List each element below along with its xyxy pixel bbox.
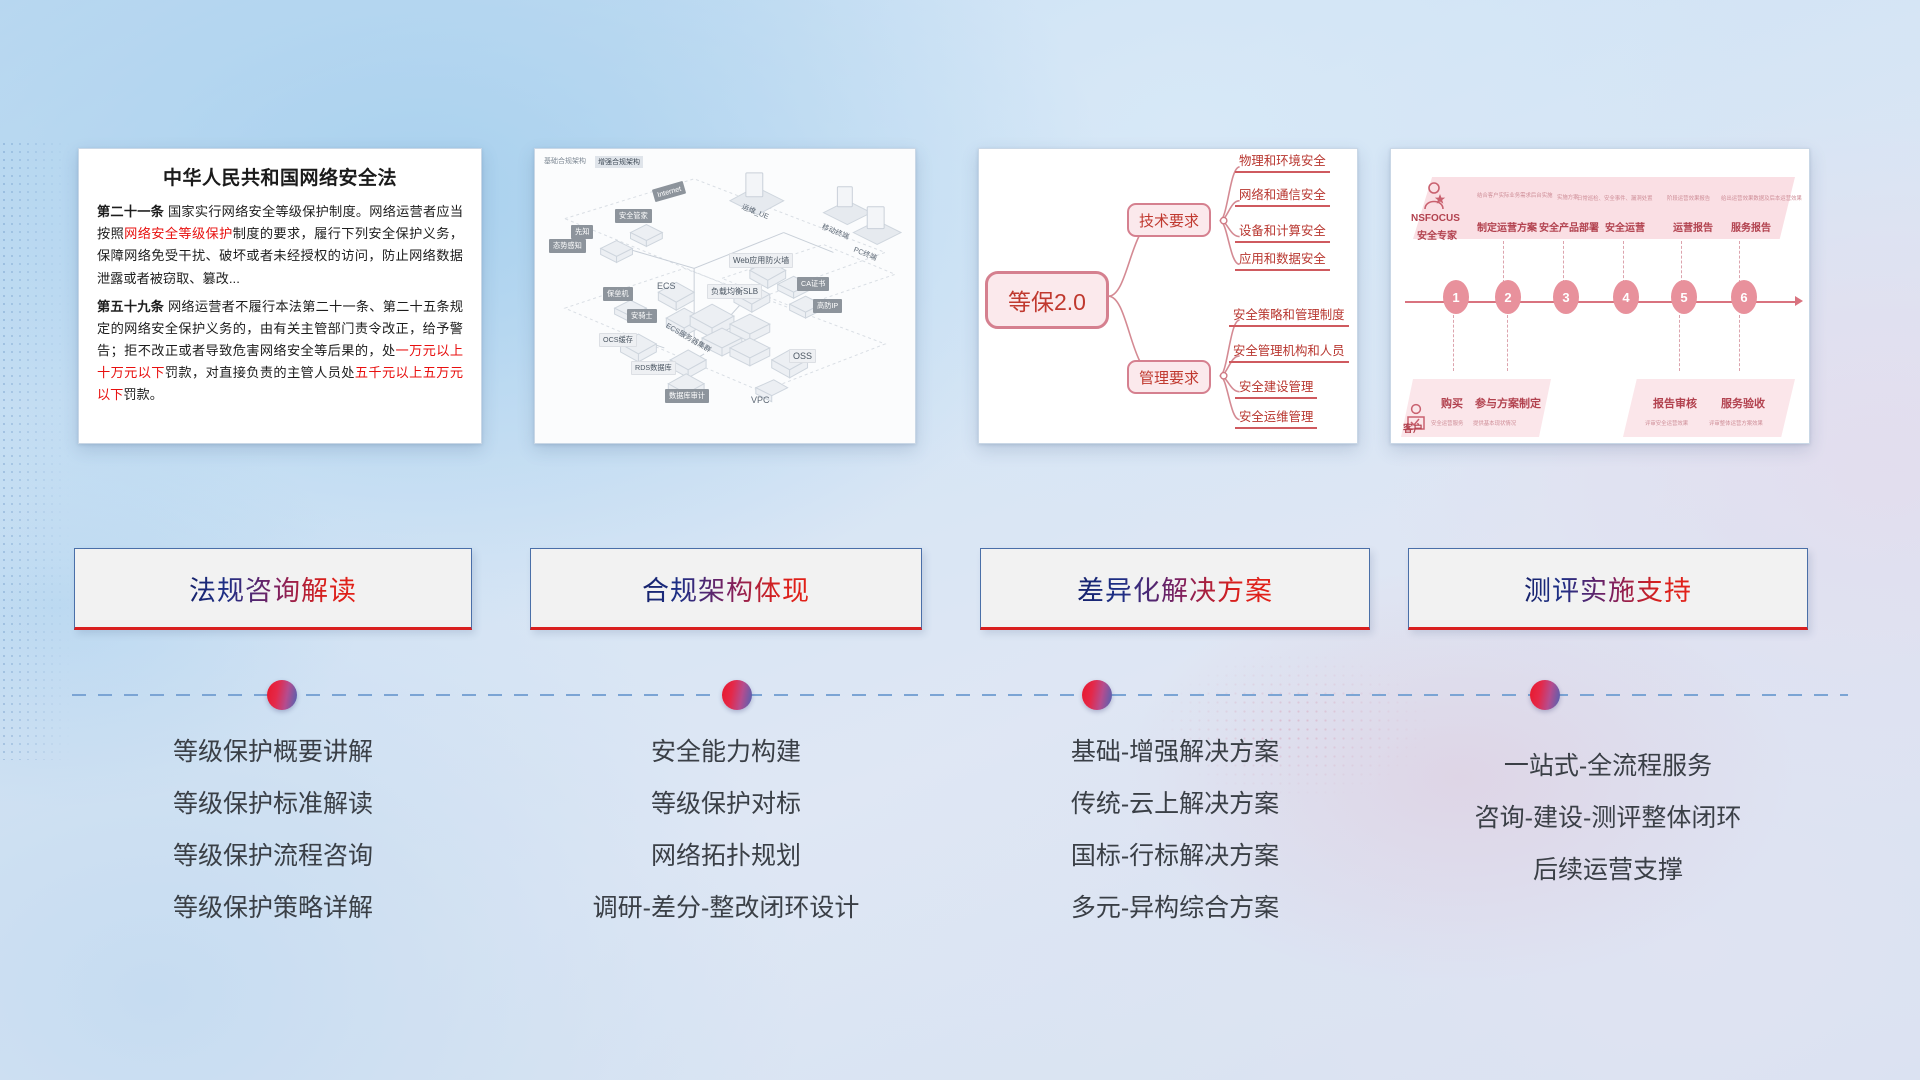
label-ca-certificate: CA证书 (797, 277, 829, 291)
bottom-step-title: 购买 (1441, 395, 1463, 411)
bottom-step-sub: 提供基本现状情况 (1473, 419, 1516, 427)
mindmap-leaf: 物理和环境安全 (1235, 151, 1330, 173)
timeline-dashed-line (72, 694, 1848, 696)
law-article-21: 第二十一条 国家实行网络安全等级保护制度。网络运营者应当按照网络安全等级保护制度… (97, 201, 463, 290)
detail-column-architecture: 安全能力构建 等级保护对标 网络拓扑规划 调研-差分-整改闭环设计 (530, 740, 922, 948)
label-security-butler: 安全管家 (615, 209, 652, 223)
bottom-step-title: 报告审核 (1653, 395, 1697, 411)
timeline-node[interactable]: 5 (1671, 280, 1697, 314)
mindmap-branch-technical: 技术要求 (1127, 203, 1211, 237)
mindmap-root: 等保2.0 (985, 271, 1109, 329)
expert-role: 安全专家 (1417, 227, 1457, 242)
stage-button-label: 测评实施支持 (1524, 569, 1692, 608)
mindmap-leaf: 安全管理机构和人员 (1229, 341, 1349, 363)
bottom-step-title: 服务验收 (1721, 395, 1765, 411)
label-rds-database: RDS数据库 (631, 361, 676, 375)
law-document: 中华人民共和国网络安全法 第二十一条 国家实行网络安全等级保护制度。网络运营者应… (79, 149, 481, 421)
label-anti-ddos-ip: 高防IP (813, 299, 842, 313)
top-step-sub: 结合客户实际业务需求后台实施 (1477, 191, 1552, 199)
top-step-title: 制定运营方案 (1477, 219, 1537, 234)
detail-line: 调研-差分-整改闭环设计 (530, 896, 922, 921)
mindmap-leaf: 安全运维管理 (1235, 407, 1317, 429)
architecture-diagram: 基础合规架构 增强合规架构 (535, 149, 915, 443)
mindmap-leaf: 设备和计算安全 (1235, 221, 1330, 243)
process-timeline (72, 694, 1848, 696)
label-xianzhi: 先知 (571, 225, 593, 239)
connector-dashed (1623, 241, 1624, 283)
law-article-21-label: 第二十一条 (97, 204, 164, 219)
connector-dashed (1507, 315, 1508, 371)
label-security-knight: 安骑士 (627, 309, 657, 323)
mindmap-leaf: 安全建设管理 (1235, 377, 1317, 399)
mindmap-leaf: 安全策略和管理制度 (1229, 305, 1349, 327)
expert-brand: NSFOCUS (1411, 213, 1460, 224)
timeline-marker-2[interactable] (722, 680, 752, 710)
card-nsfocus-service-timeline[interactable]: NSFOCUS 安全专家 结合客户实际业务需求后台实施 制定运营方案 实施方案 … (1390, 148, 1810, 444)
law-article-59-part3: 罚款。 (123, 387, 163, 402)
top-step-title: 服务报告 (1731, 219, 1771, 234)
top-step-title: 安全产品部署 (1539, 219, 1599, 234)
connector-dashed (1503, 241, 1504, 283)
connector-dashed (1679, 315, 1680, 371)
label-database-audit: 数据库审计 (665, 389, 709, 403)
label-situation-awareness: 态势感知 (549, 239, 586, 253)
stage-button-compliance-architecture[interactable]: 合规架构体现 (530, 548, 922, 630)
label-ecs: ECS (657, 281, 676, 291)
detail-line: 后续运营支撑 (1408, 858, 1808, 883)
card-cybersecurity-law[interactable]: 中华人民共和国网络安全法 第二十一条 国家实行网络安全等级保护制度。网络运营者应… (78, 148, 482, 444)
law-article-21-highlight: 网络安全等级保护 (124, 226, 233, 241)
customer-role: 客户 (1403, 420, 1423, 435)
stage-button-regulation-consulting[interactable]: 法规咨询解读 (74, 548, 472, 630)
stage-button-label: 法规咨询解读 (189, 569, 357, 608)
top-step-title: 运营报告 (1673, 219, 1713, 234)
law-article-59-part2: 罚款，对直接负责的主管人员处 (165, 365, 355, 380)
detail-line: 等级保护流程咨询 (74, 844, 472, 869)
bottom-step-sub: 评审安全运营效果 (1645, 419, 1688, 427)
detail-line: 等级保护概要讲解 (74, 740, 472, 765)
mindmap: 等保2.0 技术要求 物理和环境安全 网络和通信安全 设备和计算安全 应用和数据… (979, 149, 1357, 443)
timeline-marker-3[interactable] (1082, 680, 1112, 710)
stage-button-differentiated-solution[interactable]: 差异化解决方案 (980, 548, 1370, 630)
law-article-59-label: 第五十九条 (97, 299, 164, 314)
nsfocus-timeline: NSFOCUS 安全专家 结合客户实际业务需求后台实施 制定运营方案 实施方案 … (1391, 149, 1809, 443)
connector-dashed (1739, 315, 1740, 371)
connector-dashed (1739, 241, 1740, 283)
detail-line: 传统-云上解决方案 (980, 792, 1370, 817)
top-step-sub: 日常巡检、安全事件、漏洞处置 (1577, 194, 1652, 202)
detail-line: 咨询-建设-测评整体闭环 (1408, 806, 1808, 831)
label-oss: OSS (789, 349, 816, 363)
mindmap-branch-management: 管理要求 (1127, 360, 1211, 394)
timeline-node[interactable]: 3 (1553, 280, 1579, 314)
bottom-step-sub: 安全运营服务 (1431, 419, 1463, 427)
detail-line: 基础-增强解决方案 (980, 740, 1370, 765)
expert-person-icon (1421, 181, 1447, 211)
stage-button-assessment-support[interactable]: 测评实施支持 (1408, 548, 1808, 630)
detail-line: 等级保护策略详解 (74, 896, 472, 921)
timeline-node[interactable]: 6 (1731, 280, 1757, 314)
preview-cards-row: 中华人民共和国网络安全法 第二十一条 国家实行网络安全等级保护制度。网络运营者应… (0, 148, 1920, 444)
stage-button-label: 差异化解决方案 (1077, 569, 1273, 608)
label-ocs-cache: OCS缓存 (599, 333, 637, 347)
detail-column-solution: 基础-增强解决方案 传统-云上解决方案 国标-行标解决方案 多元-异构综合方案 (980, 740, 1370, 948)
law-article-59: 第五十九条 网络运营者不履行本法第二十一条、第二十五条规定的网络安全保护义务的，… (97, 296, 463, 407)
detail-line: 网络拓扑规划 (530, 844, 922, 869)
detail-line: 安全能力构建 (530, 740, 922, 765)
slide-stage: 中华人民共和国网络安全法 第二十一条 国家实行网络安全等级保护制度。网络运营者应… (0, 0, 1920, 1080)
mindmap-leaf: 应用和数据安全 (1235, 249, 1330, 271)
label-slb: 负载均衡SLB (707, 284, 762, 299)
label-vpc: VPC (751, 395, 770, 405)
timeline-node[interactable]: 2 (1495, 280, 1521, 314)
timeline-node[interactable]: 4 (1613, 280, 1639, 314)
timeline-arrow-icon (1795, 296, 1803, 306)
detail-column-regulation: 等级保护概要讲解 等级保护标准解读 等级保护流程咨询 等级保护策略详解 (74, 740, 472, 948)
mindmap-leaf: 网络和通信安全 (1235, 185, 1330, 207)
customer-band-right (1623, 379, 1795, 437)
bottom-step-sub: 评审整体运营方案效果 (1709, 419, 1763, 427)
connector-dashed (1453, 315, 1454, 371)
connector-dashed (1681, 241, 1682, 283)
label-web-waf: Web应用防火墙 (729, 253, 793, 268)
timeline-node[interactable]: 1 (1443, 280, 1469, 314)
detail-column-assessment: 一站式-全流程服务 咨询-建设-测评整体闭环 后续运营支撑 (1408, 740, 1808, 910)
label-bastion-host: 保垒机 (603, 287, 633, 301)
top-step-sub: 实施方案 (1557, 193, 1579, 201)
detail-line: 国标-行标解决方案 (980, 844, 1370, 869)
top-step-sub: 阶段运营效果报告 (1667, 194, 1710, 202)
top-step-sub: 给出运营效果数据及后本运营效果 (1721, 194, 1802, 202)
stage-buttons-row: 法规咨询解读 合规架构体现 差异化解决方案 测评实施支持 (0, 548, 1920, 640)
detail-line: 多元-异构综合方案 (980, 896, 1370, 921)
law-title: 中华人民共和国网络安全法 (97, 163, 463, 190)
timeline-marker-4[interactable] (1530, 680, 1560, 710)
detail-line: 等级保护标准解读 (74, 792, 472, 817)
timeline-marker-1[interactable] (267, 680, 297, 710)
top-step-title: 安全运营 (1605, 219, 1645, 234)
bottom-step-title: 参与方案制定 (1475, 395, 1541, 411)
card-djcp-mindmap[interactable]: 等保2.0 技术要求 物理和环境安全 网络和通信安全 设备和计算安全 应用和数据… (978, 148, 1358, 444)
card-compliance-architecture[interactable]: 基础合规架构 增强合规架构 (534, 148, 916, 444)
connector-dashed (1563, 241, 1564, 283)
detail-line: 等级保护对标 (530, 792, 922, 817)
detail-line: 一站式-全流程服务 (1408, 754, 1808, 779)
stage-button-label: 合规架构体现 (642, 569, 810, 608)
